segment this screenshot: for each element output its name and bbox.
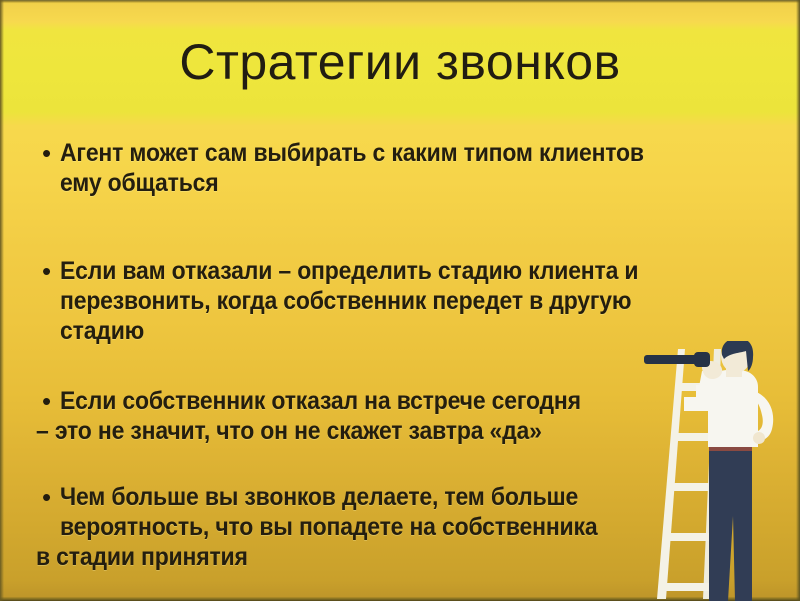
bullet-line: ему общаться xyxy=(60,168,695,198)
hand-right xyxy=(753,432,765,444)
bullet-text-2: Если вам отказали – определить стадию кл… xyxy=(60,256,689,346)
frame-edge-bottom xyxy=(0,597,800,601)
presentation-slide: Стратегии звонков • Агент может сам выби… xyxy=(0,0,800,601)
bullet-continuation-4: в стадии принятия xyxy=(36,542,736,572)
bullet-item-4: • Чем больше вы звонков делаете, тем бол… xyxy=(36,482,736,542)
spacer xyxy=(36,446,736,482)
bullet-item-2: • Если вам отказали – определить стадию … xyxy=(36,256,736,346)
bullet-text-3: Если собственник отказал на встрече сего… xyxy=(60,386,626,416)
bullet-item-3: • Если собственник отказал на встрече се… xyxy=(36,386,736,416)
bullet-line: Агент может сам выбирать с каким типом к… xyxy=(60,138,695,168)
frame-edge-top xyxy=(0,0,800,3)
bullet-marker-icon: • xyxy=(36,138,60,168)
bullet-text-1: Агент может сам выбирать с каким типом к… xyxy=(60,138,695,198)
bullet-line: стадию xyxy=(60,316,689,346)
slide-title: Стратегии звонков xyxy=(0,36,800,89)
slide-body: • Агент может сам выбирать с каким типом… xyxy=(36,138,736,572)
spacer xyxy=(36,346,736,386)
bullet-item-1: • Агент может сам выбирать с каким типом… xyxy=(36,138,736,198)
bullet-line: перезвонить, когда собственник передет в… xyxy=(60,286,689,316)
bullet-marker-icon: • xyxy=(36,256,60,286)
bullet-line: Чем больше вы звонков делаете, тем больш… xyxy=(60,482,644,512)
bullet-marker-icon: • xyxy=(36,482,60,512)
bullet-text-4: Чем больше вы звонков делаете, тем больш… xyxy=(60,482,644,542)
bullet-line: вероятность, что вы попадете на собствен… xyxy=(60,512,644,542)
frame-edge-left xyxy=(0,0,4,601)
frame-edge-right xyxy=(796,0,800,601)
bullet-line: Если собственник отказал на встрече сего… xyxy=(60,386,626,416)
bullet-marker-icon: • xyxy=(36,386,60,416)
spacer xyxy=(36,198,736,256)
bullet-continuation-3: – это не значит, что он не скажет завтра… xyxy=(36,416,736,446)
arm-on-hip xyxy=(752,391,773,441)
bullet-line: Если вам отказали – определить стадию кл… xyxy=(60,256,689,286)
